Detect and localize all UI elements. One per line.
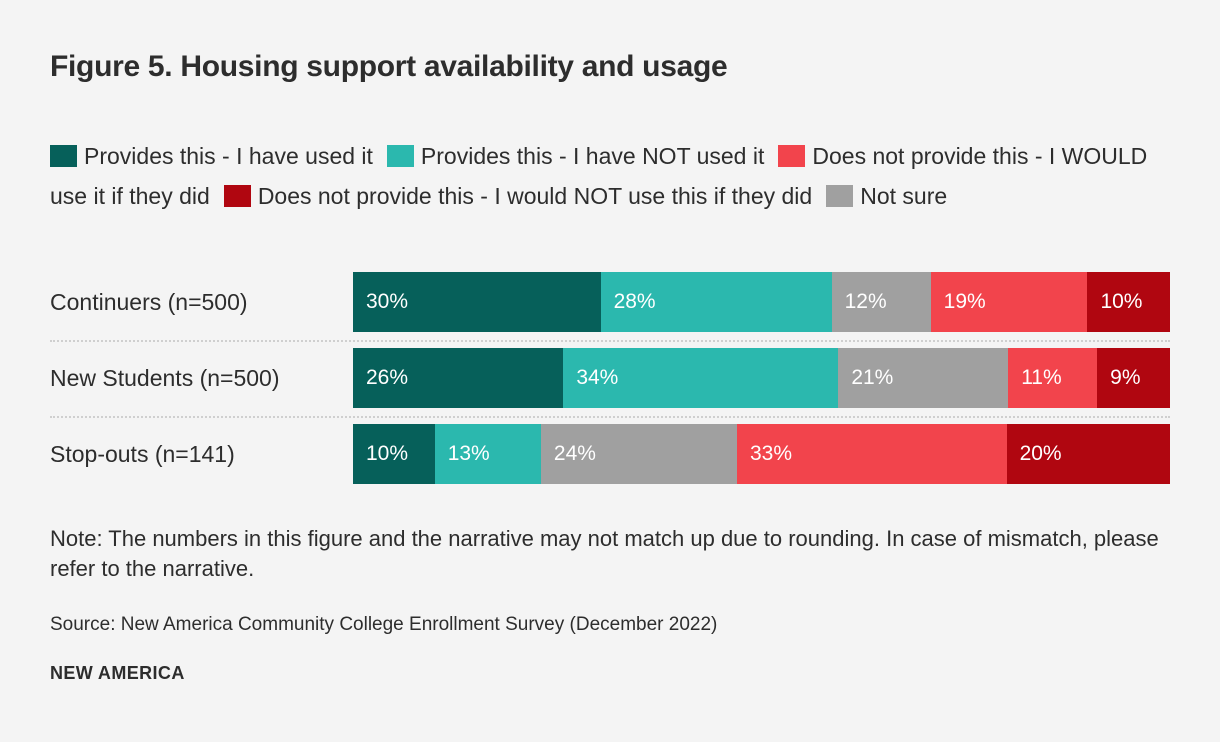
legend-item-label: Provides this - I have NOT used it bbox=[421, 143, 764, 169]
legend-item-label: Provides this - I have used it bbox=[84, 143, 373, 169]
legend-item-label: Not sure bbox=[860, 183, 947, 209]
bar-row-label: Stop-outs (n=141) bbox=[50, 441, 353, 468]
table-row: New Students (n=500)26%34%21%11%9% bbox=[50, 348, 1170, 408]
bar-segment[interactable]: 19% bbox=[931, 272, 1088, 332]
legend-swatch-icon bbox=[826, 185, 853, 207]
row-separator bbox=[50, 408, 1170, 424]
bar-segment[interactable]: 34% bbox=[563, 348, 838, 408]
legend-item-not_used[interactable]: Provides this - I have NOT used it bbox=[387, 143, 778, 169]
bar-segment[interactable]: 24% bbox=[541, 424, 737, 484]
legend-item-label: Does not provide this - I would NOT use … bbox=[258, 183, 812, 209]
legend-swatch-icon bbox=[224, 185, 251, 207]
bar-segment[interactable]: 9% bbox=[1097, 348, 1170, 408]
bar-segment[interactable]: 20% bbox=[1007, 424, 1170, 484]
bar-segment-value: 28% bbox=[614, 290, 656, 314]
stacked-bar-chart: Continuers (n=500)30%28%12%19%10%New Stu… bbox=[50, 272, 1170, 484]
bar-segment[interactable]: 10% bbox=[1087, 272, 1170, 332]
bar-segment-value: 34% bbox=[576, 366, 618, 390]
bar-segment-value: 10% bbox=[1100, 290, 1142, 314]
bar-segment-value: 30% bbox=[366, 290, 408, 314]
bar-segment-value: 24% bbox=[554, 442, 596, 466]
bar-segment-value: 11% bbox=[1021, 366, 1061, 390]
bar-segment-value: 21% bbox=[851, 366, 893, 390]
bar-segment[interactable]: 33% bbox=[737, 424, 1007, 484]
figure-container: Figure 5. Housing support availability a… bbox=[0, 0, 1220, 742]
bar-segment[interactable]: 21% bbox=[838, 348, 1008, 408]
row-separator bbox=[50, 332, 1170, 348]
bar-segment-value: 20% bbox=[1020, 442, 1062, 466]
legend-item-used[interactable]: Provides this - I have used it bbox=[50, 143, 387, 169]
bar-segment[interactable]: 13% bbox=[435, 424, 541, 484]
figure-source: Source: New America Community College En… bbox=[50, 614, 717, 636]
bar-row-label: Continuers (n=500) bbox=[50, 289, 353, 316]
bar-segment[interactable]: 12% bbox=[832, 272, 931, 332]
bar-segment-value: 19% bbox=[944, 290, 986, 314]
bar-segment-value: 26% bbox=[366, 366, 408, 390]
legend-item-would_not_use[interactable]: Does not provide this - I would NOT use … bbox=[224, 183, 826, 209]
bar-segment-value: 33% bbox=[750, 442, 792, 466]
bar-segment-value: 9% bbox=[1110, 366, 1140, 390]
legend-item-not_sure[interactable]: Not sure bbox=[826, 183, 961, 209]
bar-segment[interactable]: 28% bbox=[601, 272, 832, 332]
bar-segment[interactable]: 30% bbox=[353, 272, 601, 332]
chart-legend: Provides this - I have used itProvides t… bbox=[50, 136, 1175, 216]
bar-segment[interactable]: 26% bbox=[353, 348, 563, 408]
table-row: Stop-outs (n=141)10%13%24%33%20% bbox=[50, 424, 1170, 484]
stacked-bar: 30%28%12%19%10% bbox=[353, 272, 1170, 332]
page-title: Figure 5. Housing support availability a… bbox=[50, 50, 727, 84]
stacked-bar: 10%13%24%33%20% bbox=[353, 424, 1170, 484]
brand-logo: NEW AMERICA bbox=[50, 663, 185, 684]
bar-segment-value: 10% bbox=[366, 442, 408, 466]
bar-segment-value: 12% bbox=[845, 290, 887, 314]
legend-swatch-icon bbox=[50, 145, 77, 167]
bar-segment[interactable]: 10% bbox=[353, 424, 435, 484]
bar-segment[interactable]: 11% bbox=[1008, 348, 1097, 408]
table-row: Continuers (n=500)30%28%12%19%10% bbox=[50, 272, 1170, 332]
figure-note: Note: The numbers in this figure and the… bbox=[50, 524, 1165, 584]
legend-swatch-icon bbox=[778, 145, 805, 167]
bar-row-label: New Students (n=500) bbox=[50, 365, 353, 392]
stacked-bar: 26%34%21%11%9% bbox=[353, 348, 1170, 408]
legend-swatch-icon bbox=[387, 145, 414, 167]
bar-segment-value: 13% bbox=[448, 442, 490, 466]
